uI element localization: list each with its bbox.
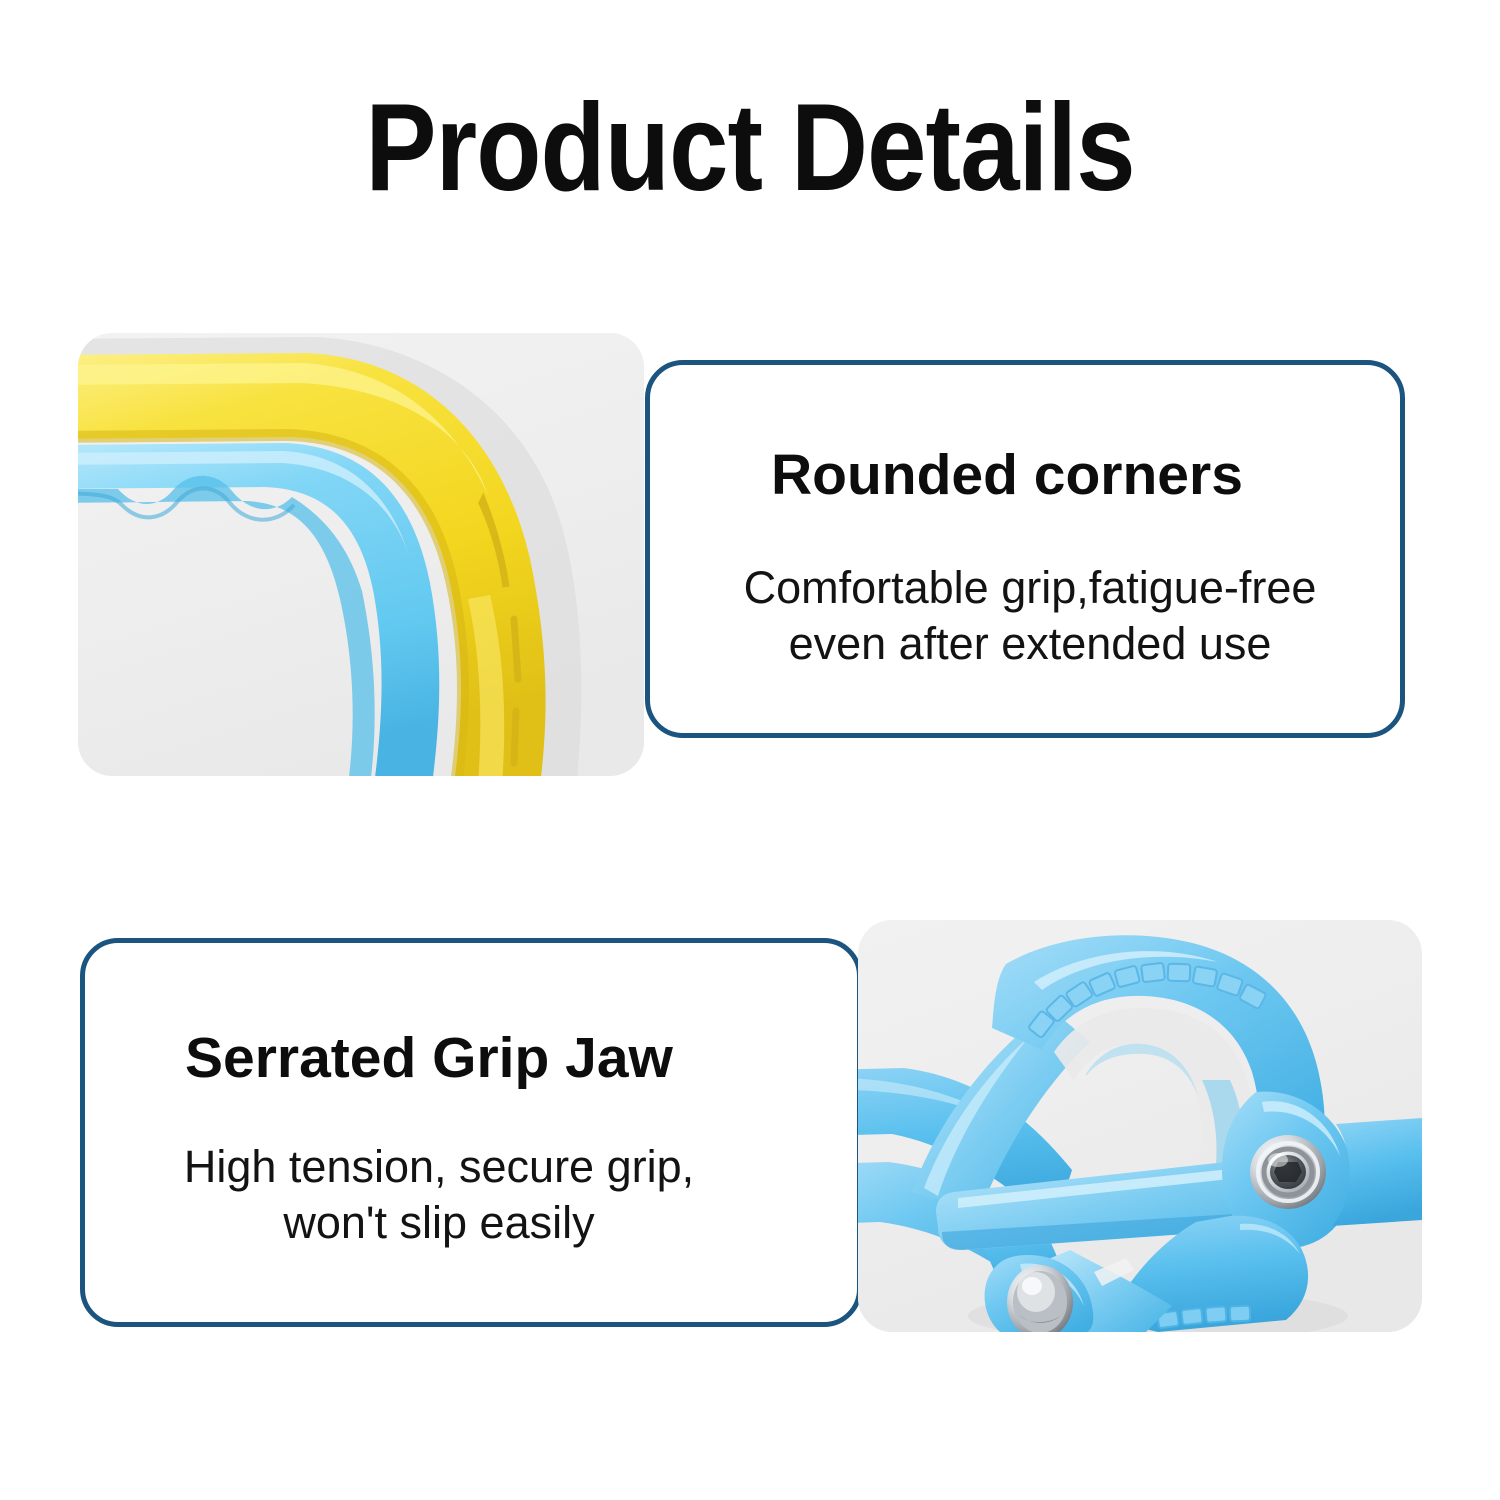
page-title: Product Details xyxy=(105,86,1395,210)
rivet-top xyxy=(1250,1135,1326,1209)
card-body-serrated-grip-jaw: High tension, secure grip, won't slip ea… xyxy=(129,1139,749,1251)
card-heading-serrated-grip-jaw: Serrated Grip Jaw xyxy=(185,1027,673,1089)
feature-card-serrated-grip-jaw: Serrated Grip Jaw High tension, secure g… xyxy=(80,938,862,1327)
serrated-jaw-illustration xyxy=(858,920,1422,1332)
card-body-line: even after extended use xyxy=(664,616,1396,672)
card-body-rounded-corners: Comfortable grip,fatigue-free even after… xyxy=(650,560,1410,672)
card-body-line: Comfortable grip,fatigue-free xyxy=(664,560,1396,616)
card-body-line: High tension, secure grip, xyxy=(129,1139,749,1195)
rounded-handle-illustration xyxy=(78,333,644,776)
product-photo-rounded-handle xyxy=(78,333,644,776)
feature-card-rounded-corners: Rounded corners Comfortable grip,fatigue… xyxy=(645,360,1405,738)
product-details-infographic: Product Details Rounded corners Comforta… xyxy=(0,0,1500,1500)
card-heading-rounded-corners: Rounded corners xyxy=(771,444,1243,506)
card-body-line: won't slip easily xyxy=(129,1195,749,1251)
product-photo-serrated-jaw xyxy=(858,920,1422,1332)
